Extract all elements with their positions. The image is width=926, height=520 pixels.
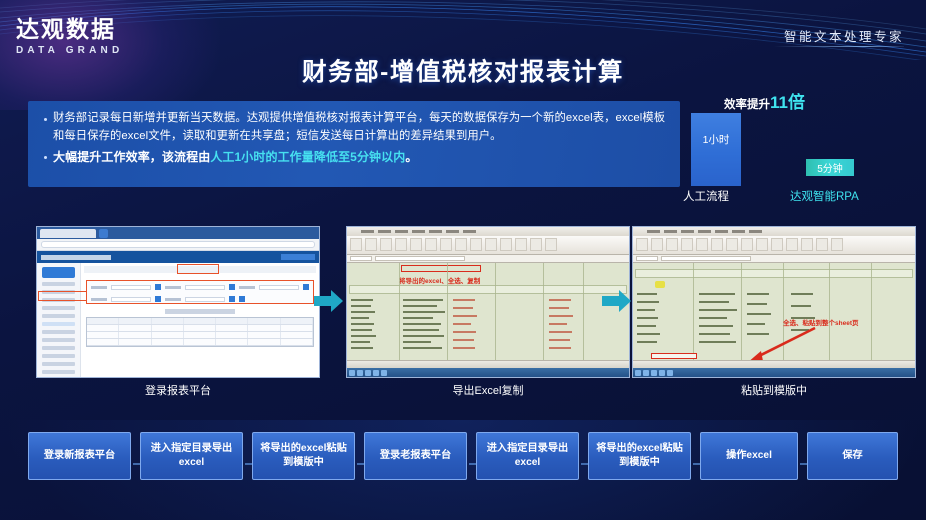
screenshot-excel-export[interactable]: 将导出的excel、全选、复制 [346, 226, 630, 378]
form-label [239, 286, 255, 289]
table-cell [87, 325, 119, 331]
brand-logo: 达观数据 DATA GRAND [16, 18, 123, 56]
form-input [111, 285, 151, 290]
cell-text [351, 317, 369, 319]
table-cell [216, 339, 248, 345]
excel-toolbar-highlight [401, 265, 481, 272]
menu-item [446, 230, 459, 233]
intro-bullet-2-text: 大幅提升工作效率，该流程由人工1小时的工作量降低至5分钟以内。 [53, 148, 417, 167]
ribbon-button [816, 238, 828, 251]
cell-text [403, 335, 444, 337]
sidebar-header [42, 267, 75, 278]
cell-text [699, 333, 730, 335]
flow-arrow-icon [602, 288, 632, 314]
excel-ribbon [347, 236, 629, 255]
menu-item [732, 230, 745, 233]
sidebar-item [42, 354, 75, 358]
flow-step-3[interactable]: 将导出的excel粘贴到模版中 [252, 432, 355, 480]
ribbon-button [380, 238, 392, 251]
excel-annotation-text: 将导出的excel、全选、复制 [399, 275, 480, 285]
excel-menu-bar [633, 227, 915, 236]
cell-text-numeric [453, 299, 475, 301]
cell-text-numeric [549, 331, 572, 333]
ribbon-button [410, 238, 422, 251]
table-cell [184, 325, 216, 331]
table-row [87, 339, 313, 346]
highlighted-cell [655, 281, 665, 288]
app-body [37, 263, 319, 378]
grid-column-line [447, 263, 448, 360]
cell-text [699, 309, 737, 311]
cell-text [351, 347, 373, 349]
screenshot-caption-2: 导出Excel复制 [346, 382, 630, 398]
excel-window: 将导出的excel、全选、复制 [347, 227, 629, 377]
slide-root: 达观数据 DATA GRAND 智能文本处理专家 财务部-增值税核对报表计算 财… [0, 0, 926, 520]
ribbon-button [756, 238, 768, 251]
taskbar-icon [635, 370, 641, 376]
annotation-arrow-icon [741, 325, 817, 360]
form-input [185, 297, 225, 302]
ribbon-button [771, 238, 783, 251]
menu-item [749, 230, 762, 233]
grid-column-line [543, 263, 544, 360]
cell-text [403, 317, 433, 319]
table-header-cell [184, 318, 216, 324]
excel-sheet-tab-highlight[interactable] [651, 353, 697, 359]
table-cell [248, 339, 280, 345]
intro-bullet-2-suffix: 。 [405, 150, 417, 164]
bar-manual-category-label: 人工流程 [683, 188, 729, 204]
logo-chinese-text: 达观数据 [16, 18, 123, 41]
ribbon-button [440, 238, 452, 251]
browser-tab-bar [37, 227, 319, 239]
cell-text [747, 313, 771, 315]
cell-text [637, 325, 656, 327]
cell-text [351, 311, 375, 313]
cell-text [403, 305, 437, 307]
form-label [165, 298, 181, 301]
cell-text-numeric [549, 339, 570, 341]
form-picker-icon [229, 284, 235, 290]
cell-text [351, 305, 371, 307]
cell-text [747, 293, 769, 295]
browser-url-bar [37, 239, 319, 251]
ribbon-button [485, 238, 497, 251]
name-box [636, 256, 658, 261]
cell-text [403, 299, 443, 301]
table-header-cell [248, 318, 280, 324]
table-cell [281, 325, 313, 331]
cell-text [637, 317, 658, 319]
excel-status-bar [347, 360, 629, 368]
menu-item [395, 230, 408, 233]
taskbar-icon [365, 370, 371, 376]
toolbar-highlight-box [177, 264, 219, 274]
table-row [87, 325, 313, 332]
menu-item [715, 230, 728, 233]
ribbon-button [681, 238, 693, 251]
cell-text [747, 303, 767, 305]
excel-grid: 将导出的excel、全选、复制 [347, 263, 629, 360]
cell-text-numeric [549, 307, 569, 309]
cell-text-numeric [453, 323, 471, 325]
table-cell [281, 332, 313, 338]
cell-text [791, 293, 813, 295]
form-input [259, 285, 299, 290]
ribbon-button [365, 238, 377, 251]
flow-step-2[interactable]: 进入指定目录导出excel [140, 432, 243, 480]
table-cell [152, 339, 184, 345]
windows-taskbar [633, 368, 915, 377]
brand-tagline: 智能文本处理专家 [784, 26, 904, 45]
menu-item [681, 230, 694, 233]
taskbar-icon [349, 370, 355, 376]
cell-text [699, 293, 735, 295]
ribbon-button [636, 238, 648, 251]
cell-text [637, 341, 657, 343]
cell-text [699, 301, 729, 303]
report-table-caption [165, 309, 235, 314]
cell-text-numeric [453, 307, 473, 309]
cell-text-numeric [549, 323, 567, 325]
table-header-row [87, 318, 313, 325]
menu-item [378, 230, 391, 233]
form-picker-icon [239, 296, 245, 302]
table-header-cell [216, 318, 248, 324]
ribbon-button [530, 238, 542, 251]
cell-text [637, 301, 659, 303]
taskbar-icon [373, 370, 379, 376]
taskbar-icon [381, 370, 387, 376]
taskbar-icon [651, 370, 657, 376]
table-cell [119, 339, 151, 345]
form-label [91, 298, 107, 301]
ribbon-button [350, 238, 362, 251]
grid-column-line [399, 263, 400, 360]
menu-item [463, 230, 476, 233]
app-header-title [41, 255, 111, 260]
menu-item [664, 230, 677, 233]
form-picker-icon [303, 284, 309, 290]
taskbar-icon [659, 370, 665, 376]
cell-text [791, 305, 811, 307]
bullet-dot-icon [44, 118, 47, 121]
menu-item [429, 230, 442, 233]
cell-text-numeric [549, 299, 571, 301]
table-cell [119, 332, 151, 338]
table-cell [87, 332, 119, 338]
report-table [86, 317, 314, 347]
taskbar-icon [643, 370, 649, 376]
intro-bullet-1-text: 财务部记录每日新增并更新当天数据。达观提供增值税核对报表计算平台，每天的数据保存… [53, 110, 666, 145]
table-cell [216, 325, 248, 331]
browser-tab [40, 229, 96, 238]
excel-status-bar [633, 360, 915, 368]
excel-table-header [349, 285, 627, 294]
arrow-right-icon [602, 288, 632, 314]
app-header-bar [37, 251, 319, 263]
screenshot-row: 登录报表平台 将导出的exce [0, 226, 926, 386]
sidebar-item [42, 346, 75, 350]
screenshot-caption-1: 登录报表平台 [36, 382, 320, 398]
form-picker-icon [155, 284, 161, 290]
app-sidebar-tree [37, 263, 81, 378]
ribbon-button [455, 238, 467, 251]
ribbon-button [786, 238, 798, 251]
arrow-right-icon [314, 288, 344, 314]
form-label [165, 286, 181, 289]
bar-rpa-value-label: 5分钟 [817, 160, 843, 175]
flow-step-7[interactable]: 操作excel [700, 432, 798, 480]
excel-window: 全选、粘贴到整个sheet页 [633, 227, 915, 377]
cell-text-numeric [453, 347, 475, 349]
app-header-user [281, 254, 315, 260]
bar-rpa-process: 5分钟 [806, 159, 854, 176]
table-cell [281, 339, 313, 345]
ribbon-button [545, 238, 557, 251]
flow-step-5[interactable]: 进入指定目录导出excel [476, 432, 579, 480]
form-label [91, 286, 107, 289]
form-input [111, 297, 151, 302]
table-header-cell [281, 318, 313, 324]
ribbon-button [666, 238, 678, 251]
process-flow-row: 登录新报表平台 进入指定目录导出excel 将导出的excel粘贴到模版中 登录… [0, 432, 926, 486]
ribbon-button [515, 238, 527, 251]
menu-item [412, 230, 425, 233]
sidebar-item [42, 362, 75, 366]
cell-text [403, 323, 441, 325]
ribbon-button [741, 238, 753, 251]
form-picker-icon [229, 296, 235, 302]
grid-column-line [829, 263, 830, 360]
cell-text [351, 299, 373, 301]
query-form-row [87, 293, 313, 305]
sidebar-item [42, 306, 75, 310]
table-cell [248, 332, 280, 338]
ribbon-button [696, 238, 708, 251]
excel-ribbon [633, 236, 915, 255]
excel-annotation-text: 全选、粘贴到整个sheet页 [783, 317, 858, 327]
tagline-underline [774, 46, 904, 47]
table-cell [216, 332, 248, 338]
cell-text [637, 293, 657, 295]
grid-column-line [495, 263, 496, 360]
cell-text-numeric [549, 347, 571, 349]
sidebar-item [42, 282, 75, 286]
table-cell [248, 325, 280, 331]
table-cell [184, 339, 216, 345]
sidebar-item [42, 370, 75, 374]
grid-column-line [871, 263, 872, 360]
table-header-cell [152, 318, 184, 324]
cell-text [351, 329, 372, 331]
intro-bullet-1: 财务部记录每日新增并更新当天数据。达观提供增值税核对报表计算平台，每天的数据保存… [42, 110, 666, 145]
windows-taskbar [347, 368, 629, 377]
sidebar-item-selected [42, 322, 75, 326]
efficiency-chart-title: 效率提升11倍 [724, 88, 805, 113]
formula-input [375, 256, 465, 261]
intro-bullet-2-highlight: 人工1小时的工作量降低至5分钟以内 [210, 150, 405, 164]
flow-arrow-icon [314, 288, 344, 314]
intro-bullet-2-prefix: 大幅提升工作效率，该流程由 [53, 150, 210, 164]
intro-bullet-2: 大幅提升工作效率，该流程由人工1小时的工作量降低至5分钟以内。 [42, 148, 666, 167]
excel-grid: 全选、粘贴到整个sheet页 [633, 263, 915, 360]
form-input [185, 285, 225, 290]
bar-manual-process: 1小时 [691, 113, 741, 186]
ribbon-button [425, 238, 437, 251]
cell-text-numeric [453, 315, 477, 317]
table-cell [152, 332, 184, 338]
ribbon-button [711, 238, 723, 251]
formula-input [661, 256, 751, 261]
menu-item [361, 230, 374, 233]
ribbon-button [470, 238, 482, 251]
cell-text-numeric [453, 339, 474, 341]
cell-text [637, 333, 660, 335]
cell-text-numeric [549, 315, 573, 317]
menu-item [698, 230, 711, 233]
excel-formula-bar [347, 255, 629, 263]
sidebar-item [42, 338, 75, 342]
cell-text [699, 341, 736, 343]
query-form-row [87, 281, 313, 293]
cell-text-numeric [453, 331, 476, 333]
cell-text [403, 341, 431, 343]
table-cell [184, 332, 216, 338]
table-row [87, 332, 313, 339]
efficiency-title-prefix: 效率提升 [724, 99, 770, 111]
ribbon-button [395, 238, 407, 251]
table-cell [87, 339, 119, 345]
ribbon-button [651, 238, 663, 251]
form-picker-icon [155, 296, 161, 302]
cell-text [351, 335, 376, 337]
cell-text [351, 341, 370, 343]
flow-step-1[interactable]: 登录新报表平台 [28, 432, 131, 480]
bar-rpa-category-label: 达观智能RPA [790, 188, 859, 204]
efficiency-chart: 效率提升11倍 1小时 5分钟 人工流程 达观智能RPA [686, 88, 918, 203]
taskbar-icon [357, 370, 363, 376]
grid-column-line [583, 263, 584, 360]
ribbon-button [726, 238, 738, 251]
table-cell [119, 325, 151, 331]
screenshot-caption-3: 粘贴到模版中 [632, 382, 916, 398]
flow-step-6[interactable]: 将导出的excel粘贴到模版中 [588, 432, 691, 480]
flow-step-4[interactable]: 登录老报表平台 [364, 432, 467, 480]
page-title: 财务部-增值税核对报表计算 [0, 53, 926, 88]
table-cell [152, 325, 184, 331]
name-box [350, 256, 372, 261]
app-main-panel [81, 263, 319, 378]
cell-text [403, 311, 445, 313]
screenshot-report-platform[interactable] [36, 226, 320, 378]
cell-text [699, 317, 727, 319]
intro-panel: 财务部记录每日新增并更新当天数据。达观提供增值税核对报表计算平台，每天的数据保存… [28, 101, 680, 187]
query-form-highlight [86, 280, 314, 304]
screenshot-excel-paste[interactable]: 全选、粘贴到整个sheet页 [632, 226, 916, 378]
excel-menu-bar [347, 227, 629, 236]
browser-new-tab-icon [99, 229, 108, 238]
bar-manual-value-label: 1小时 [703, 132, 730, 147]
cell-text [403, 329, 439, 331]
cell-text [403, 347, 442, 349]
ribbon-button [831, 238, 843, 251]
grid-column-line [693, 263, 694, 360]
taskbar-icon [667, 370, 673, 376]
menu-item [647, 230, 660, 233]
efficiency-title-multiplier: 11倍 [770, 93, 805, 112]
bullet-dot-icon [44, 156, 47, 159]
cell-text [351, 323, 374, 325]
cell-text [637, 309, 655, 311]
cell-text [699, 325, 733, 327]
table-header-cell [119, 318, 151, 324]
browser-url-input [41, 241, 315, 248]
table-header-cell [87, 318, 119, 324]
sidebar-item [42, 330, 75, 334]
excel-formula-bar [633, 255, 915, 263]
ribbon-button [500, 238, 512, 251]
flow-step-8[interactable]: 保存 [807, 432, 898, 480]
ribbon-button [801, 238, 813, 251]
sidebar-item [42, 314, 75, 318]
